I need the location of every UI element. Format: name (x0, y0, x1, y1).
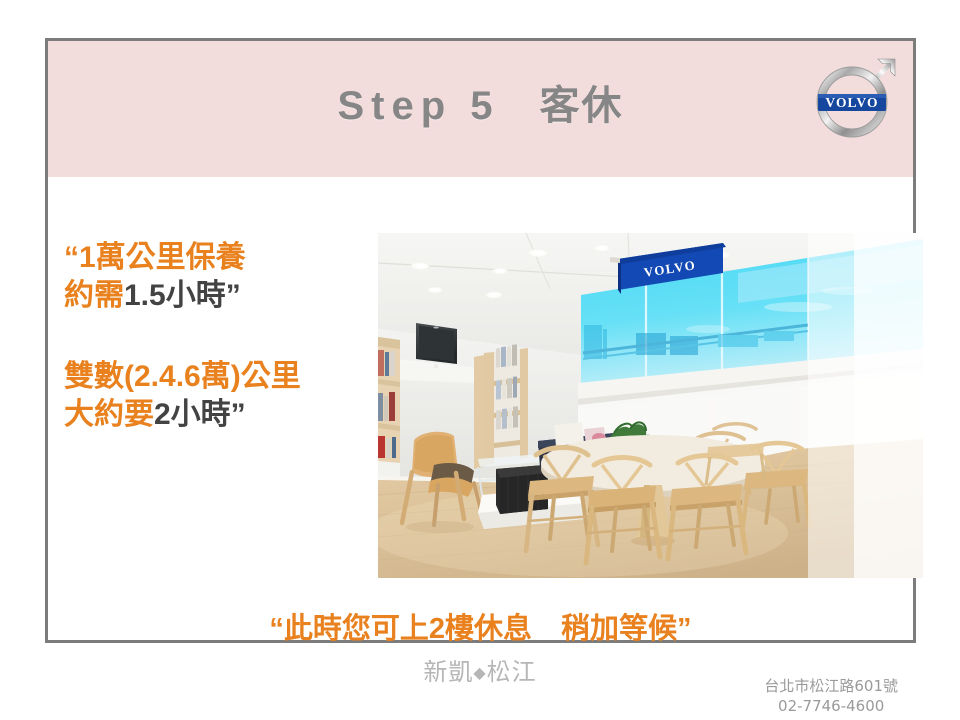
slide-frame: Step 5 客休 (45, 38, 916, 643)
footer-phone-line: 02-7746-4600 (764, 696, 898, 716)
diamond-separator-icon: ◆ (473, 663, 486, 682)
quote-line: “1萬公里保養 (64, 239, 374, 277)
lounge-photo-inner: VOLVO (378, 233, 923, 578)
quote-text-block: “1萬公里保養 約需1.5小時” 雙數(2.4.6萬)公里 大約要2小時” (64, 239, 374, 435)
footer-address-line: 台北市松江路601號 (764, 676, 898, 696)
page-title: Step 5 客休 (48, 73, 913, 131)
quote-line: 雙數(2.4.6萬)公里 (64, 358, 374, 396)
quote-line: 約需1.5小時” (64, 277, 374, 315)
volvo-wordmark-text: VOLVO (825, 95, 878, 110)
volvo-iron-mark-icon: VOLVO (811, 50, 899, 148)
quote-group-1: “1萬公里保養 約需1.5小時” (64, 239, 374, 316)
page-title-cjk: 客休 (540, 84, 624, 128)
slide-body: “1萬公里保養 約需1.5小時” 雙數(2.4.6萬)公里 大約要2小時” (48, 177, 913, 640)
quote-span: “1萬公里保養 (64, 241, 246, 274)
slide-header-band: Step 5 客休 (48, 41, 913, 177)
volvo-wordmark: VOLVO (818, 94, 886, 111)
quote-span: 約需 (64, 279, 124, 312)
quote-span: 雙數(2.4.6萬)公里 (64, 360, 301, 393)
footer-contact: 台北市松江路601號 02-7746-4600 (764, 676, 898, 717)
quote-line: 大約要2小時” (64, 396, 374, 434)
quote-span: 2小時” (154, 398, 246, 431)
mid-bookshelf-icon (484, 344, 528, 466)
page-title-step: Step 5 (337, 84, 499, 128)
bottom-caption: “此時您可上2樓休息 稍加等候” (48, 605, 913, 647)
quote-span: 大約要 (64, 398, 154, 431)
left-bookshelf-icon (378, 337, 400, 479)
lounge-photo-graphic: VOLVO (378, 233, 923, 578)
footer-brand-right: 松江 (487, 658, 537, 686)
volvo-logo: VOLVO (811, 50, 899, 148)
quote-span: 1.5小時” (124, 279, 241, 312)
quote-group-2: 雙數(2.4.6萬)公里 大約要2小時” (64, 358, 374, 435)
lounge-photo: VOLVO (378, 233, 923, 578)
footer-brand-left: 新凱 (423, 658, 473, 686)
